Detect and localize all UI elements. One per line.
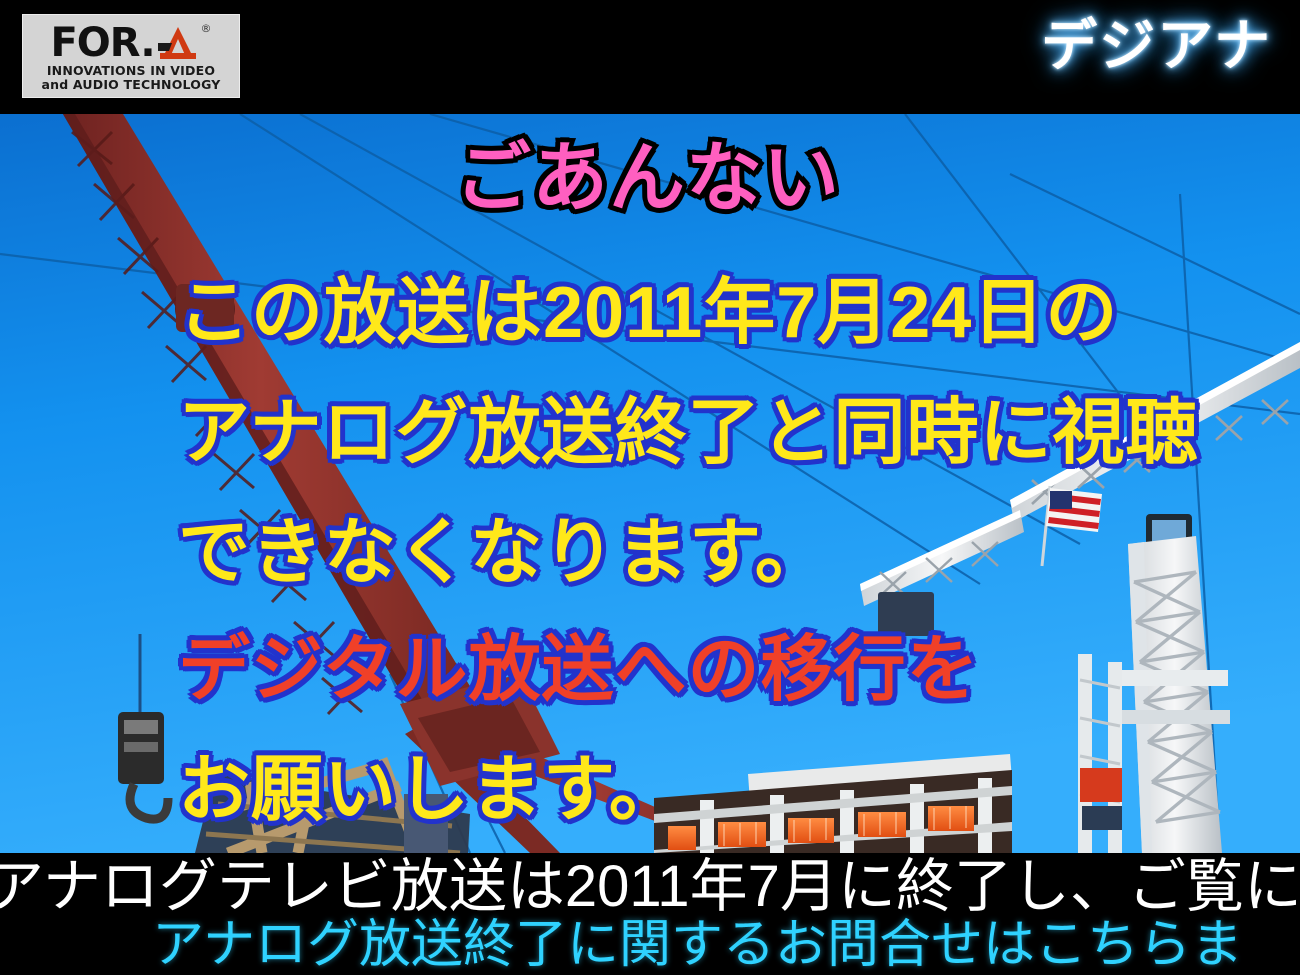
background-photo <box>0 114 1300 853</box>
channel-name: デジアナ <box>1041 16 1272 76</box>
ticker-bar: アナログテレビ放送は2011年7月に終了し、ご覧に アナログ放送終了に関するお問… <box>0 853 1300 975</box>
logo-text: FOR. <box>50 23 154 63</box>
registered-mark-icon: ® <box>201 23 212 34</box>
ticker-line-2: アナログ放送終了に関するお問合せはこちらま <box>152 919 1243 971</box>
logo-wordmark: FOR. ® <box>50 23 211 63</box>
fora-logo: FOR. ® INNOVATIONS IN VIDEO and AUDIO TE… <box>22 14 240 98</box>
logo-tagline-2: and AUDIO TECHNOLOGY <box>41 77 220 92</box>
building-lower-floors <box>0 114 1300 853</box>
broadcast-screen: FOR. ® INNOVATIONS IN VIDEO and AUDIO TE… <box>0 0 1300 975</box>
fora-a-mark-icon <box>156 25 200 63</box>
ticker-line-1: アナログテレビ放送は2011年7月に終了し、ご覧に <box>0 858 1300 916</box>
logo-tagline-1: INNOVATIONS IN VIDEO <box>47 63 215 78</box>
